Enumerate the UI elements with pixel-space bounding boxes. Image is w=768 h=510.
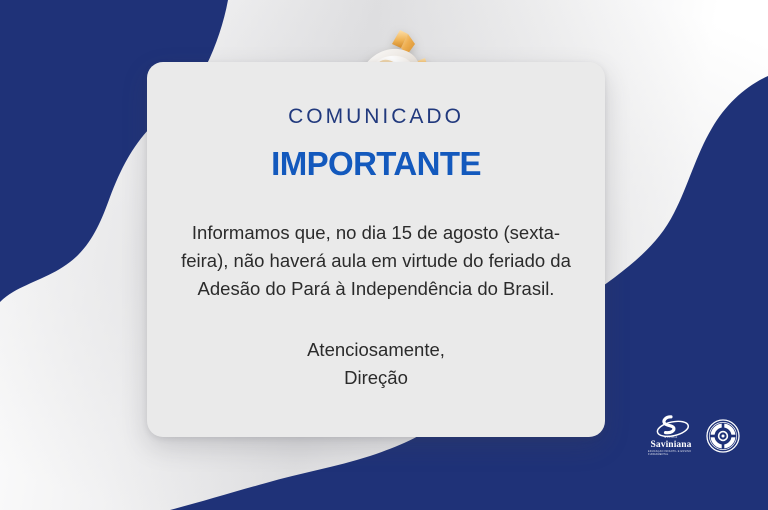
kicker-label: COMUNICADO bbox=[288, 106, 464, 127]
saviniana-subtitle: EDUCAÇÃO INFANTIL E ENSINO FUNDAMENTAL bbox=[648, 451, 694, 457]
logo-bar: ESCOLA Saviniana EDUCAÇÃO INFANTIL E ENS… bbox=[648, 414, 744, 458]
circular-emblem-icon bbox=[706, 419, 740, 453]
saviniana-swirl-icon bbox=[649, 415, 693, 437]
signoff-greeting: Atenciosamente, bbox=[307, 336, 445, 364]
saviniana-tiny-top: ESCOLA bbox=[665, 437, 678, 440]
saviniana-name: Saviniana bbox=[650, 441, 691, 451]
announcement-body: Informamos que, no dia 15 de agosto (sex… bbox=[177, 219, 575, 303]
announcement-poster: COMUNICADO IMPORTANTE Informamos que, no… bbox=[0, 0, 768, 510]
page-title: IMPORTANTE bbox=[271, 147, 481, 180]
announcement-card: COMUNICADO IMPORTANTE Informamos que, no… bbox=[147, 62, 605, 437]
signoff-signer: Direção bbox=[307, 364, 445, 392]
saviniana-logo: ESCOLA Saviniana EDUCAÇÃO INFANTIL E ENS… bbox=[648, 415, 694, 457]
signoff-block: Atenciosamente, Direção bbox=[307, 336, 445, 392]
